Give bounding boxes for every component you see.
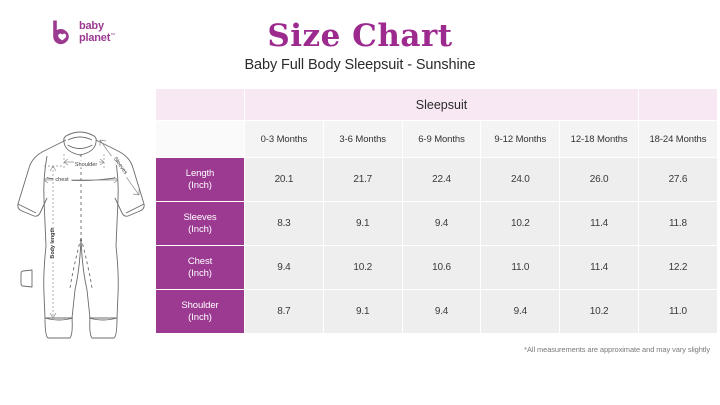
cell-sleeves-12-18: 11.4 (560, 202, 638, 245)
cell-shoulder-9-12: 9.4 (481, 290, 559, 333)
cell-shoulder-12-18: 10.2 (560, 290, 638, 333)
row-label-length-unit: (Inch) (156, 180, 244, 192)
row-label-chest-unit: (Inch) (156, 268, 244, 280)
table-row: Sleeves (Inch) 8.3 9.1 9.4 10.2 11.4 11.… (156, 202, 717, 245)
row-label-sleeves-name: Sleeves (156, 212, 244, 224)
size-chart-table: Sleepsuit 0-3 Months 3-6 Months 6-9 Mont… (155, 88, 718, 334)
row-label-length: Length (Inch) (156, 158, 244, 201)
cell-sleeves-3-6: 9.1 (324, 202, 402, 245)
cell-chest-3-6: 10.2 (324, 246, 402, 289)
table-row: Length (Inch) 20.1 21.7 22.4 24.0 26.0 2… (156, 158, 717, 201)
cell-length-6-9: 22.4 (403, 158, 481, 201)
group-band-label: Sleepsuit (245, 89, 638, 120)
row-label-sleeves: Sleeves (Inch) (156, 202, 244, 245)
cell-chest-0-3: 9.4 (245, 246, 323, 289)
group-band-trailing (639, 89, 717, 120)
cell-sleeves-18-24: 11.8 (639, 202, 717, 245)
sleepsuit-illustration: Sleeves Shoulder chest Body length (8, 118, 154, 346)
column-header-blank (156, 121, 244, 157)
row-label-chest: Chest (Inch) (156, 246, 244, 289)
cell-chest-9-12: 11.0 (481, 246, 559, 289)
table-row: Shoulder (Inch) 8.7 9.1 9.4 9.4 10.2 11.… (156, 290, 717, 333)
column-header-0-3-months: 0-3 Months (245, 121, 323, 157)
cell-sleeves-9-12: 10.2 (481, 202, 559, 245)
cell-chest-12-18: 11.4 (560, 246, 638, 289)
cell-chest-18-24: 12.2 (639, 246, 717, 289)
row-label-shoulder: Shoulder (Inch) (156, 290, 244, 333)
row-label-chest-name: Chest (156, 256, 244, 268)
table-group-band-row: Sleepsuit (156, 89, 717, 120)
cell-chest-6-9: 10.6 (403, 246, 481, 289)
group-band-corner (156, 89, 244, 120)
cell-length-3-6: 21.7 (324, 158, 402, 201)
column-header-9-12-months: 9-12 Months (481, 121, 559, 157)
row-label-shoulder-unit: (Inch) (156, 312, 244, 324)
illustration-label-chest: chest (55, 177, 69, 183)
row-label-sleeves-unit: (Inch) (156, 224, 244, 236)
column-header-12-18-months: 12-18 Months (560, 121, 638, 157)
column-header-18-24-months: 18-24 Months (639, 121, 717, 157)
cell-length-18-24: 27.6 (639, 158, 717, 201)
column-header-6-9-months: 6-9 Months (403, 121, 481, 157)
cell-length-12-18: 26.0 (560, 158, 638, 201)
cell-shoulder-3-6: 9.1 (324, 290, 402, 333)
cell-shoulder-18-24: 11.0 (639, 290, 717, 333)
cell-shoulder-0-3: 8.7 (245, 290, 323, 333)
column-header-3-6-months: 3-6 Months (324, 121, 402, 157)
illustration-label-shoulder: Shoulder (75, 162, 98, 168)
table-row: Chest (Inch) 9.4 10.2 10.6 11.0 11.4 12.… (156, 246, 717, 289)
cell-length-9-12: 24.0 (481, 158, 559, 201)
page-subtitle: Baby Full Body Sleepsuit - Sunshine (0, 57, 720, 73)
cell-sleeves-6-9: 9.4 (403, 202, 481, 245)
illustration-label-body-length: Body length (50, 227, 56, 258)
row-label-length-name: Length (156, 168, 244, 180)
measurements-disclaimer: *All measurements are approximate and ma… (524, 345, 710, 354)
row-label-shoulder-name: Shoulder (156, 300, 244, 312)
page-title: Size Chart (0, 18, 720, 54)
cell-length-0-3: 20.1 (245, 158, 323, 201)
cell-sleeves-0-3: 8.3 (245, 202, 323, 245)
table-column-header-row: 0-3 Months 3-6 Months 6-9 Months 9-12 Mo… (156, 121, 717, 157)
cell-shoulder-6-9: 9.4 (403, 290, 481, 333)
